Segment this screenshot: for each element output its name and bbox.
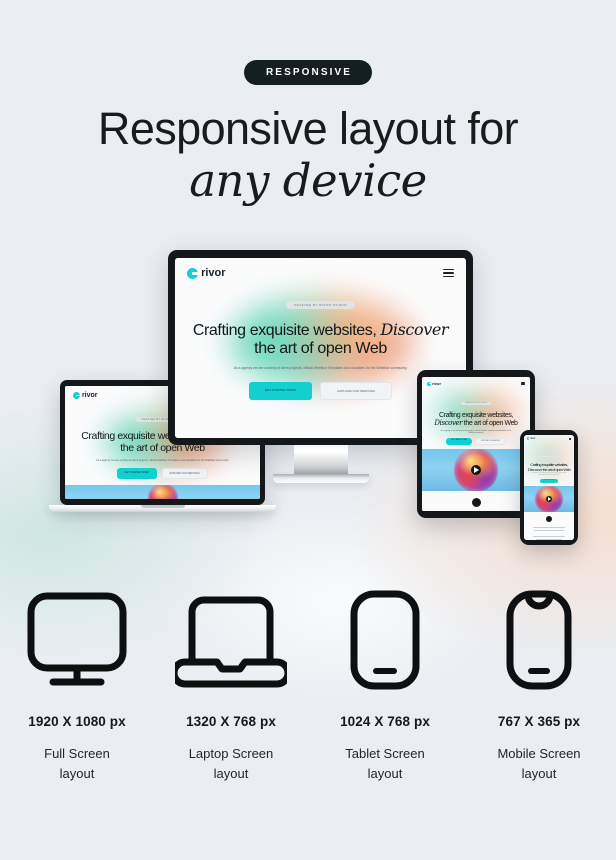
device-dimensions: 1320 X 768 px: [154, 714, 308, 729]
tablet-mockup: rivor CRAFTED BY RIVOR STUDIO Crafting e…: [417, 370, 535, 518]
device-label: Tablet Screen layout: [308, 744, 462, 784]
site-nav: rivor: [524, 435, 574, 442]
laptop-base: [49, 505, 276, 512]
hero-content: CRAFTED BY RIVOR STUDIO Crafting exquisi…: [527, 444, 571, 483]
hero-eyebrow: CRAFTED BY RIVOR STUDIO: [286, 301, 355, 309]
hero-eyebrow: CRAFTED BY RIVOR STUDIO: [538, 456, 559, 457]
monitor-foot: [273, 474, 369, 483]
device-dimensions: 1024 X 768 px: [308, 714, 462, 729]
site-hero: CRAFTED BY RIVOR STUDIO Crafting exquisi…: [422, 390, 530, 449]
device-col-tablet: 1024 X 768 px Tablet Screen layout: [308, 588, 462, 784]
site-preview-tablet: rivor CRAFTED BY RIVOR STUDIO Crafting e…: [422, 377, 530, 511]
hero-buttons: GET STARTED TODAY: [527, 479, 571, 483]
device-col-mobile: 767 X 365 px Mobile Screen layout: [462, 588, 616, 784]
hero-content: CRAFTED BY RIVOR STUDIO Crafting exquisi…: [189, 296, 452, 400]
play-button-icon[interactable]: [471, 465, 481, 475]
rivor-logo-mark-icon: [187, 268, 198, 279]
hamburger-menu-icon[interactable]: [569, 438, 571, 440]
page-title-line2: any device: [0, 157, 616, 206]
desktop-monitor-icon: [0, 588, 154, 692]
flower-image: [148, 485, 178, 499]
hero-buttons: GET STARTED TODAY EXPLORE OUR SERVICES: [189, 382, 452, 400]
device-dimensions: 1920 X 1080 px: [0, 714, 154, 729]
hero-media: [524, 486, 574, 512]
site-nav: rivor: [175, 258, 466, 288]
hero-content: CRAFTED BY RIVOR STUDIO Crafting exquisi…: [428, 392, 524, 445]
phone-screen: rivor CRAFTED BY RIVOR STUDIO Crafting e…: [524, 435, 574, 540]
status-badge: RESPONSIVE: [244, 60, 372, 85]
play-button-icon[interactable]: [472, 498, 481, 507]
hero-subtext: As a agency we are working at client pro…: [189, 366, 452, 371]
site-logo-text: rivor: [201, 267, 225, 279]
get-started-button[interactable]: GET STARTED TODAY: [446, 438, 472, 445]
placeholder-text-line: [536, 539, 562, 540]
tablet-icon: [308, 588, 462, 692]
phone-body: rivor CRAFTED BY RIVOR STUDIO Crafting e…: [520, 430, 578, 545]
hero-subtext: As a agency we are working at client pro…: [428, 430, 524, 435]
site-logo[interactable]: rivor: [427, 381, 441, 386]
site-preview-mobile: rivor CRAFTED BY RIVOR STUDIO Crafting e…: [524, 435, 574, 540]
placeholder-text-line: [533, 527, 566, 528]
play-button-icon[interactable]: [546, 496, 552, 502]
device-mockup-stage: rivor CRAFTED BY RIVOR STUDIO Crafting e…: [0, 230, 616, 550]
site-logo-text: rivor: [432, 381, 441, 386]
mobile-phone-mockup: rivor CRAFTED BY RIVOR STUDIO Crafting e…: [520, 430, 578, 545]
rivor-logo-mark-icon: [427, 382, 431, 386]
placeholder-text-line: [534, 530, 563, 531]
device-label: Mobile Screen layout: [462, 744, 616, 784]
placeholder-text-line: [533, 536, 564, 537]
site-lower-section: [524, 512, 574, 540]
get-started-button[interactable]: GET STARTED TODAY: [540, 479, 559, 483]
hero-eyebrow: CRAFTED BY RIVOR STUDIO: [461, 402, 491, 405]
play-button-icon[interactable]: [546, 516, 552, 522]
device-col-full-screen: 1920 X 1080 px Full Screen layout: [0, 588, 154, 784]
page-title-line1: Responsive layout for: [0, 106, 616, 151]
device-label: Full Screen layout: [0, 744, 154, 784]
hero-headline: Crafting exquisite websites, Discover th…: [527, 463, 571, 472]
tablet-body: rivor CRAFTED BY RIVOR STUDIO Crafting e…: [417, 370, 535, 518]
monitor-neck: [294, 445, 348, 475]
rivor-logo-mark-icon: [527, 437, 529, 439]
device-dimensions: 767 X 365 px: [462, 714, 616, 729]
get-started-button[interactable]: GET STARTED TODAY: [117, 468, 156, 479]
explore-services-button[interactable]: EXPLORE OUR SERVICES: [320, 382, 392, 400]
hero-headline: Crafting exquisite websites, Discover th…: [189, 321, 452, 358]
site-logo[interactable]: rivor: [73, 392, 98, 399]
site-hero: CRAFTED BY RIVOR STUDIO Crafting exquisi…: [524, 442, 574, 486]
device-label: Laptop Screen layout: [154, 744, 308, 784]
site-logo-text: rivor: [82, 392, 98, 399]
get-started-button[interactable]: GET STARTED TODAY: [249, 382, 313, 400]
site-lower-section: We specialize in designing crafts and op…: [422, 491, 530, 511]
mobile-phone-icon: [462, 588, 616, 692]
laptop-icon: [154, 588, 308, 692]
hero-subtext: As a agency we are working at client pro…: [527, 473, 571, 476]
rivor-logo-mark-icon: [73, 392, 80, 399]
hero-media: [65, 485, 260, 499]
tablet-screen: rivor CRAFTED BY RIVOR STUDIO Crafting e…: [422, 377, 530, 511]
explore-services-button[interactable]: EXPLORE OUR SERVICES: [475, 438, 506, 445]
page-header: RESPONSIVE Responsive layout for any dev…: [0, 0, 616, 206]
hero-headline: Crafting exquisite websites, Discover th…: [428, 412, 524, 428]
site-nav: rivor: [422, 377, 530, 390]
hero-buttons: GET STARTED TODAY EXPLORE OUR SERVICES: [428, 438, 524, 445]
site-logo-text: rivor: [530, 437, 535, 440]
device-spec-row: 1920 X 1080 px Full Screen layout 1320 X…: [0, 588, 616, 784]
hero-media: [422, 449, 530, 491]
site-logo[interactable]: rivor: [187, 267, 226, 279]
hamburger-menu-icon[interactable]: [521, 382, 525, 385]
hamburger-menu-icon[interactable]: [443, 269, 454, 277]
site-logo[interactable]: rivor: [527, 437, 535, 440]
device-col-laptop: 1320 X 768 px Laptop Screen layout: [154, 588, 308, 784]
